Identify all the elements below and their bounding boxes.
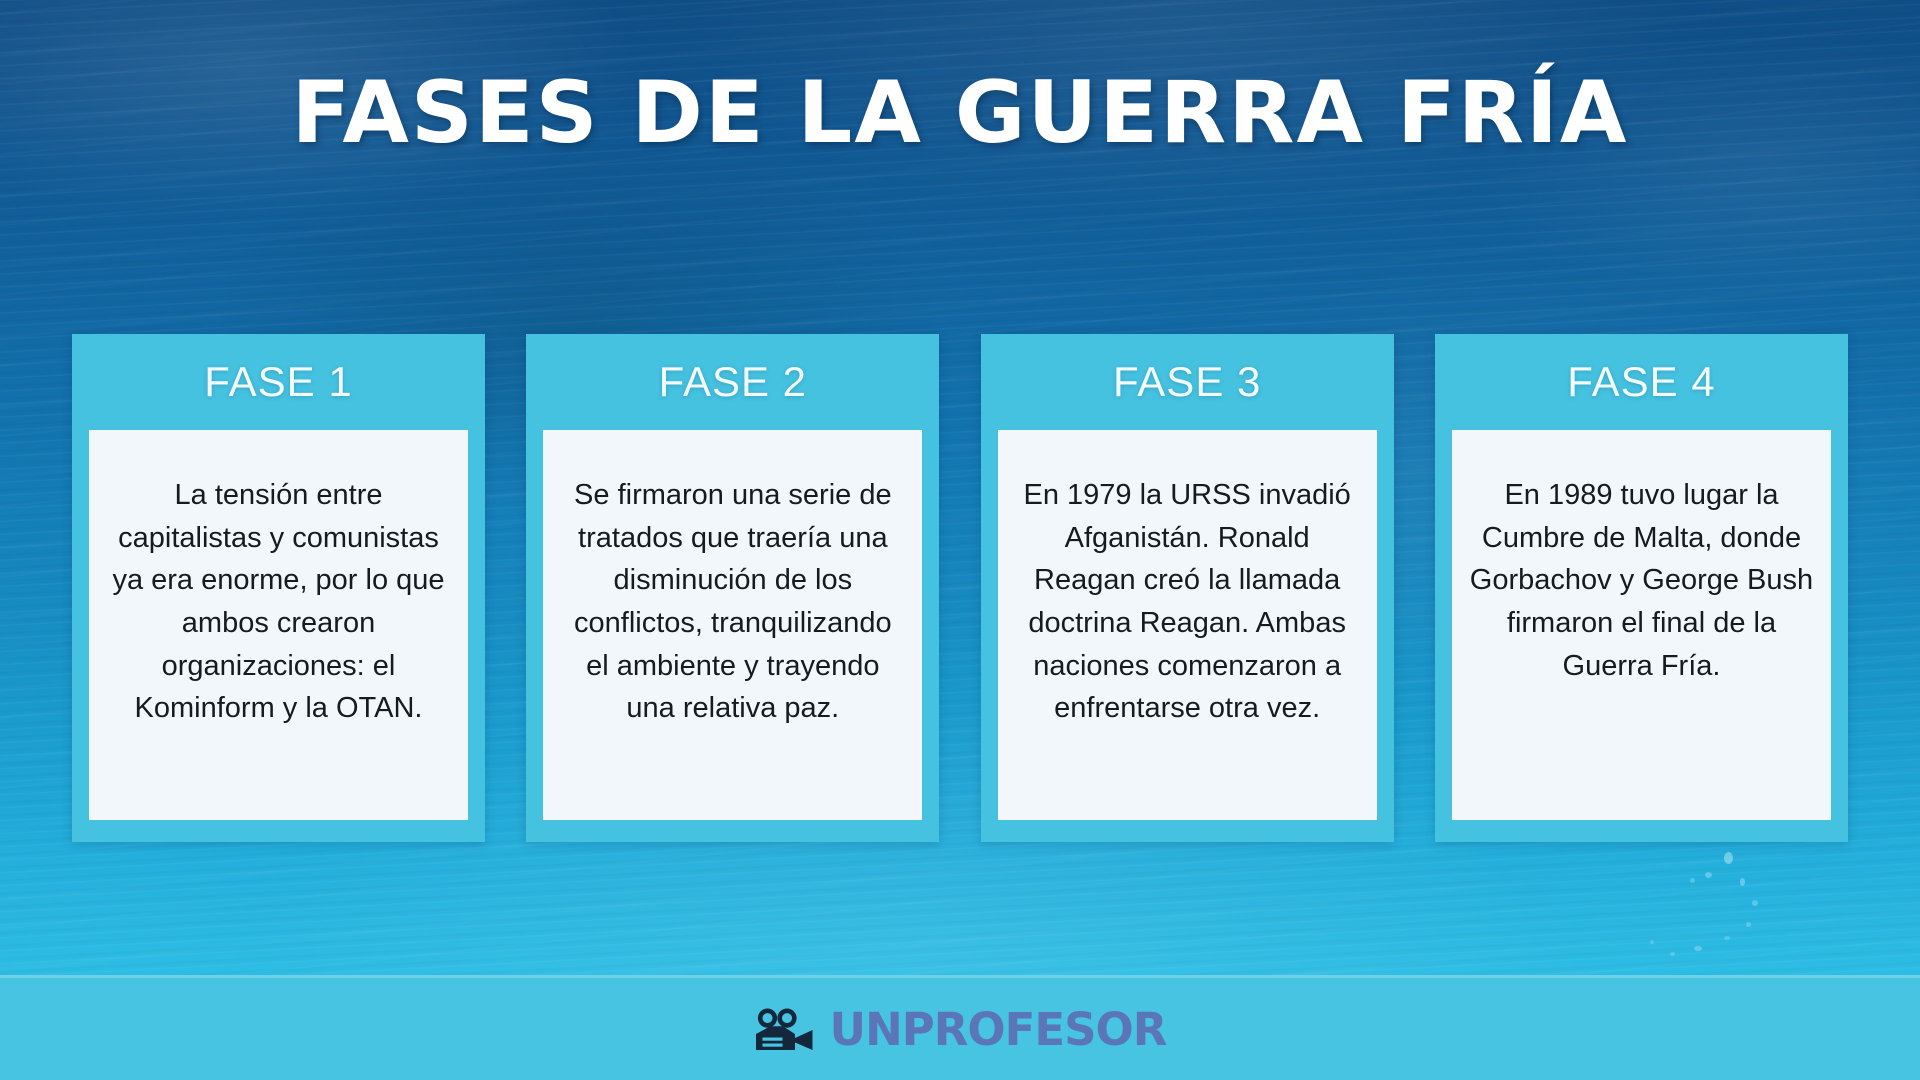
phase-card-4: FASE 4 En 1989 tuvo lugar la Cumbre de M… bbox=[1435, 334, 1848, 842]
phase-card-1-header: FASE 1 bbox=[72, 334, 485, 430]
brand-name: UNPROFESOR bbox=[830, 1007, 1167, 1052]
brand-logo[interactable]: UNPROFESOR bbox=[754, 1007, 1167, 1052]
infographic-canvas: FASES DE LA GUERRA FRÍA FASE 1 La tensió… bbox=[0, 0, 1920, 1080]
phase-card-3-body: En 1979 la URSS invadió Afganistán. Rona… bbox=[998, 430, 1377, 820]
phase-card-4-header: FASE 4 bbox=[1435, 334, 1848, 430]
phase-card-2-body: Se firmaron una serie de tratados que tr… bbox=[543, 430, 922, 820]
phase-card-4-body: En 1989 tuvo lugar la Cumbre de Malta, d… bbox=[1452, 430, 1831, 820]
phase-card-list: FASE 1 La tensión entre capitalistas y c… bbox=[72, 334, 1848, 930]
page-title: FASES DE LA GUERRA FRÍA bbox=[0, 70, 1920, 156]
phase-card-2-header: FASE 2 bbox=[526, 334, 939, 430]
footer-band: UNPROFESOR bbox=[0, 975, 1920, 1080]
phase-card-1: FASE 1 La tensión entre capitalistas y c… bbox=[72, 334, 485, 842]
phase-card-3-header: FASE 3 bbox=[981, 334, 1394, 430]
movie-camera-icon bbox=[754, 1008, 816, 1052]
phase-card-1-body: La tensión entre capitalistas y comunist… bbox=[89, 430, 468, 820]
phase-card-2: FASE 2 Se firmaron una serie de tratados… bbox=[526, 334, 939, 842]
phase-card-3: FASE 3 En 1979 la URSS invadió Afganistá… bbox=[981, 334, 1394, 842]
footer-divider bbox=[0, 975, 1920, 978]
